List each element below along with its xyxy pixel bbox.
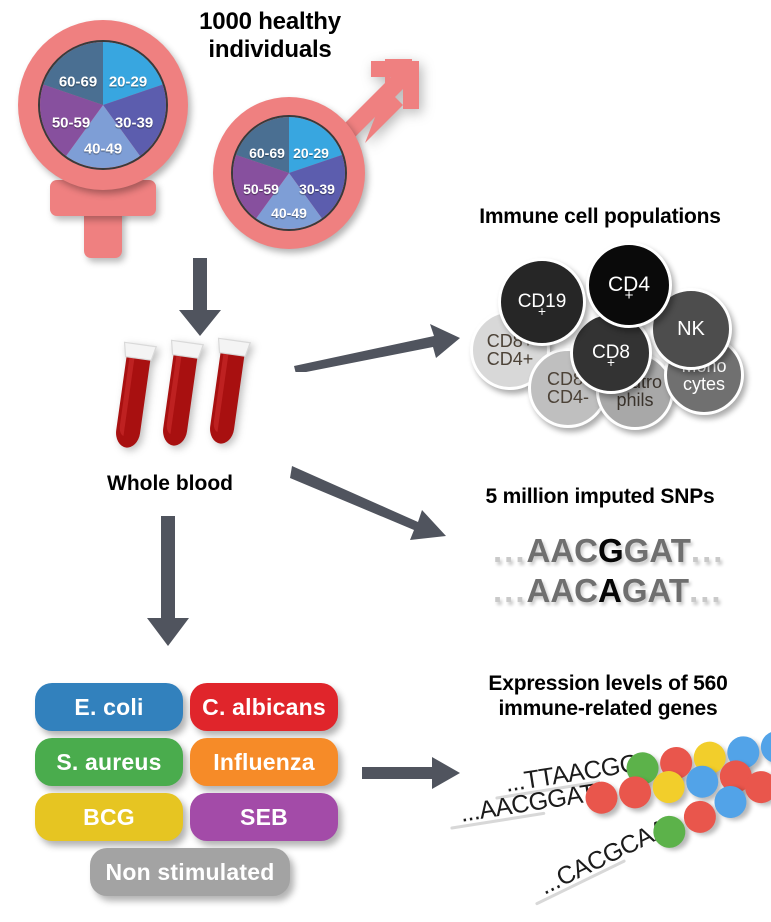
snp-tail-bases: GAT xyxy=(624,532,691,569)
arrow-blood-to-stimuli xyxy=(146,516,190,646)
snp-highlight-base: G xyxy=(598,532,624,569)
snp-suffix-dots: ... xyxy=(689,572,723,609)
immune-cell-cd4pos: CD4+ xyxy=(586,242,672,328)
snp-tail-bases: GAT xyxy=(622,572,689,609)
male-gender-symbol: 20-29 30-39 40-49 50-59 60-69 xyxy=(205,45,420,260)
snp-sequence-row-2: ...AACAGAT... xyxy=(493,572,723,610)
section-title-expression: Expression levels of 560 immune-related … xyxy=(448,672,768,722)
stimulus-label: BCG xyxy=(83,804,135,831)
stimulus-pill-non-stimulated[interactable]: Non stimulated xyxy=(90,848,290,896)
stimulus-label: Non stimulated xyxy=(106,859,275,886)
stimulus-label: E. coli xyxy=(74,694,143,721)
stimulus-pill-seb[interactable]: SEB xyxy=(190,793,338,841)
stimulus-pill-influenza[interactable]: Influenza xyxy=(190,738,338,786)
stimulus-label: C. albicans xyxy=(202,694,326,721)
blood-tube-2 xyxy=(155,338,205,453)
snp-prefix-dots: ... xyxy=(493,532,527,569)
female-age-pie-chart: 20-29 30-39 40-49 50-59 60-69 xyxy=(38,40,168,170)
blood-tube-3 xyxy=(202,336,252,451)
blood-tube-1 xyxy=(108,340,158,455)
snp-head-bases: AAC xyxy=(527,532,599,569)
stimulus-label: Influenza xyxy=(213,749,314,776)
whole-blood-label: Whole blood xyxy=(70,472,270,496)
female-gender-symbol: 20-29 30-39 40-49 50-59 60-69 xyxy=(10,12,200,262)
stimulus-pill-e-coli[interactable]: E. coli xyxy=(35,683,183,731)
cell-label-line-2: CD4- xyxy=(547,388,589,406)
male-age-pie-chart: 20-29 30-39 40-49 50-59 60-69 xyxy=(231,115,347,231)
section-title-immune: Immune cell populations xyxy=(430,205,770,230)
arrow-stimuli-to-expression xyxy=(362,756,462,790)
snp-head-bases: AAC xyxy=(527,572,599,609)
strand-bead xyxy=(759,729,771,766)
stimulus-pill-c-albicans[interactable]: C. albicans xyxy=(190,683,338,731)
snp-sequence-row-1: ...AACGGAT... xyxy=(493,532,724,570)
immune-cell-cd19pos: CD19+ xyxy=(498,258,586,346)
stimulus-label: SEB xyxy=(240,804,288,831)
section-title-snp: 5 million imputed SNPs xyxy=(440,485,760,510)
stimulus-pill-s-aureus[interactable]: S. aureus xyxy=(35,738,183,786)
cell-label-line-2: cytes xyxy=(681,375,726,393)
arrow-blood-to-immune xyxy=(292,322,462,372)
stimulus-pill-bcg[interactable]: BCG xyxy=(35,793,183,841)
cell-label-line-2: phils xyxy=(608,391,662,409)
snp-highlight-base: A xyxy=(598,572,622,609)
strand-sequence: ...CACGCAA xyxy=(535,814,673,901)
stimulus-label: S. aureus xyxy=(56,749,161,776)
snp-suffix-dots: ... xyxy=(691,532,725,569)
arrow-blood-to-snp xyxy=(290,460,450,550)
snp-prefix-dots: ... xyxy=(493,572,527,609)
cell-label-nk: NK xyxy=(677,319,705,339)
arrow-cohort-to-blood xyxy=(178,258,222,336)
figure-canvas: 1000 healthy individuals 20-29 30-39 40-… xyxy=(0,0,771,922)
cell-label-line-2: CD4+ xyxy=(487,350,534,368)
